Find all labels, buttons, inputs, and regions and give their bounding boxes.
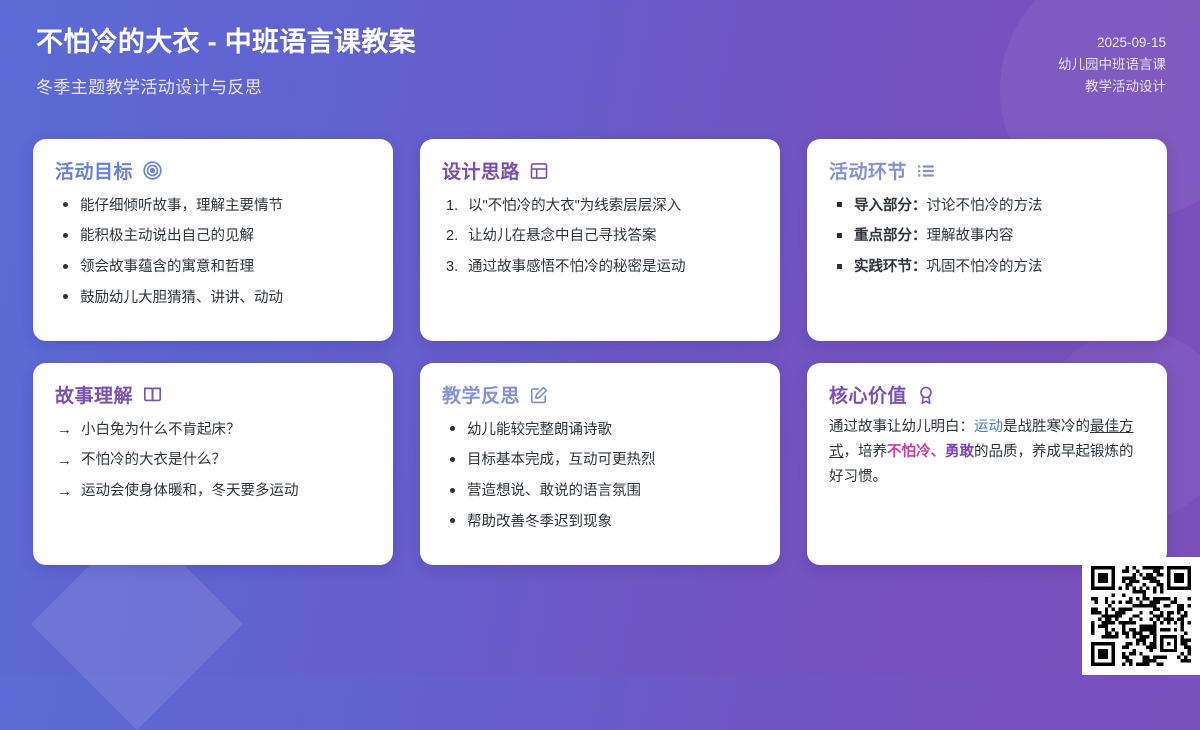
target-icon [142,160,163,181]
value-segment-5: 不怕冷、 [887,444,945,460]
step-label: 重点部分： [854,228,927,244]
value-segment-1: 运动 [974,419,1003,435]
card-value: 核心价值 通过故事让幼儿明白：运动是战胜寒冷的最佳方式，培养不怕冷、勇敢的品质，… [807,363,1167,565]
qr-code [1091,566,1191,666]
card-design: 设计思路 以"不怕冷的大衣"为线索层层深入 让幼儿在悬念中自己寻找答案 通过故事… [420,139,780,341]
step-label: 导入部分： [854,198,927,214]
card-header: 故事理解 [55,381,373,408]
story-list: 小白兔为什么不肯起床？ 不怕冷的大衣是什么？ 运动会使身体暖和，冬天要多运动 [55,415,373,507]
edit-square-icon [529,385,549,405]
card-title-steps: 活动环节 [829,157,907,184]
value-segment-2: 是战胜寒冷的 [1003,419,1090,435]
card-title-reflection: 教学反思 [442,381,520,408]
book-icon [142,384,163,405]
header-meta-line-2: 教学活动设计 [1058,76,1166,98]
card-title-objectives: 活动目标 [55,157,133,184]
list-item: 让幼儿在悬念中自己寻找答案 [442,222,760,253]
value-segment-6: 勇敢 [945,444,974,460]
qr-code-container [1082,557,1200,675]
list-icon [916,161,936,181]
card-objectives: 活动目标 能仔细倾听故事，理解主要情节 能积极主动说出自己的见解 领会故事蕴含的… [33,139,393,341]
layout-icon [529,161,549,181]
list-item: 小白兔为什么不肯起床？ [55,415,373,446]
page-subtitle: 冬季主题教学活动设计与反思 [36,73,416,98]
list-item: 鼓励幼儿大胆猜猜、讲讲、动动 [55,283,373,314]
steps-list: 导入部分：讨论不怕冷的方法 重点部分：理解故事内容 实践环节：巩固不怕冷的方法 [829,191,1147,283]
header-date: 2025-09-15 [1058,32,1166,54]
step-value: 讨论不怕冷的方法 [927,198,1043,214]
card-title-design: 设计思路 [442,157,520,184]
card-story: 故事理解 小白兔为什么不肯起床？ 不怕冷的大衣是什么？ 运动会使身体暖和，冬天要… [33,363,393,565]
list-item: 导入部分：讨论不怕冷的方法 [829,191,1147,222]
card-header: 核心价值 [829,381,1147,408]
step-value: 理解故事内容 [927,228,1014,244]
page-title: 不怕冷的大衣 - 中班语言课教案 [36,26,416,60]
card-title-value: 核心价值 [829,381,907,408]
list-item: 以"不怕冷的大衣"为线索层层深入 [442,191,760,222]
card-header: 教学反思 [442,381,760,408]
design-list: 以"不怕冷的大衣"为线索层层深入 让幼儿在悬念中自己寻找答案 通过故事感悟不怕冷… [442,191,760,283]
card-reflection: 教学反思 幼儿能较完整朗诵诗歌 目标基本完成，互动可更热烈 营造想说、敢说的语言… [420,363,780,565]
step-value: 巩固不怕冷的方法 [927,259,1043,275]
card-header: 设计思路 [442,157,760,184]
header-meta-line-1: 幼儿园中班语言课 [1058,54,1166,76]
list-item: 实践环节：巩固不怕冷的方法 [829,253,1147,284]
list-item: 能仔细倾听故事，理解主要情节 [55,191,373,222]
list-item: 帮助改善冬季迟到现象 [442,507,760,538]
card-grid: 活动目标 能仔细倾听故事，理解主要情节 能积极主动说出自己的见解 领会故事蕴含的… [33,139,1167,565]
list-item: 通过故事感悟不怕冷的秘密是运动 [442,253,760,284]
card-header: 活动目标 [55,157,373,184]
list-item: 重点部分：理解故事内容 [829,222,1147,253]
value-segment-4: ，培养 [844,444,888,460]
list-item: 领会故事蕴含的寓意和哲理 [55,253,373,284]
header-title-block: 不怕冷的大衣 - 中班语言课教案 冬季主题教学活动设计与反思 [36,26,416,98]
card-steps: 活动环节 导入部分：讨论不怕冷的方法 重点部分：理解故事内容 实践环节：巩固不怕… [807,139,1167,341]
award-icon [916,385,936,405]
step-label: 实践环节： [854,259,927,275]
list-item: 目标基本完成，互动可更热烈 [442,446,760,477]
value-segment-0: 通过故事让幼儿明白： [829,419,974,435]
page-header: 不怕冷的大衣 - 中班语言课教案 冬季主题教学活动设计与反思 2025-09-1… [0,0,1200,125]
reflection-list: 幼儿能较完整朗诵诗歌 目标基本完成，互动可更热烈 营造想说、敢说的语言氛围 帮助… [442,415,760,538]
list-item: 能积极主动说出自己的见解 [55,222,373,253]
card-header: 活动环节 [829,157,1147,184]
list-item: 营造想说、敢说的语言氛围 [442,477,760,508]
card-title-story: 故事理解 [55,381,133,408]
value-paragraph: 通过故事让幼儿明白：运动是战胜寒冷的最佳方式，培养不怕冷、勇敢的品质，养成早起锻… [829,415,1147,490]
list-item: 不怕冷的大衣是什么？ [55,446,373,477]
list-item: 运动会使身体暖和，冬天要多运动 [55,477,373,508]
header-meta-block: 2025-09-15 幼儿园中班语言课 教学活动设计 [1058,26,1166,98]
objectives-list: 能仔细倾听故事，理解主要情节 能积极主动说出自己的见解 领会故事蕴含的寓意和哲理… [55,191,373,314]
list-item: 幼儿能较完整朗诵诗歌 [442,415,760,446]
